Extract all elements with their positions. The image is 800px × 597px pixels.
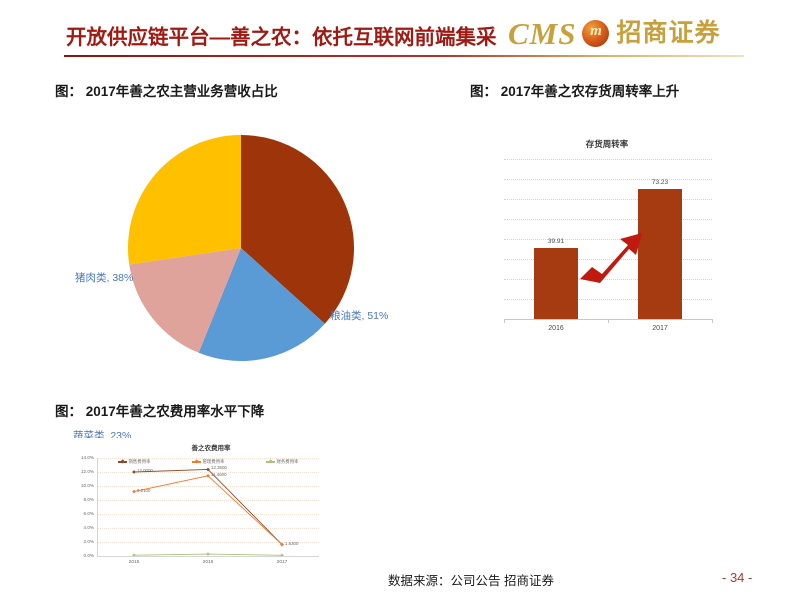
line-x-tick-label: 2015	[114, 560, 154, 565]
bar-x-tick	[608, 319, 609, 323]
pie-slice-label-zhurou: 猪肉类, 38%	[75, 270, 133, 285]
line-series-marker	[132, 490, 136, 494]
line-legend-item: 管理费用率	[192, 459, 225, 465]
bar-value-label: 39.91	[534, 238, 578, 245]
line-y-tick-label: 8.0%	[84, 497, 94, 502]
logo-latin-text: CMS	[508, 18, 576, 49]
line-y-tick-label: 10.0%	[81, 483, 94, 488]
line-y-tick-label: 6.0%	[84, 511, 94, 516]
pie-chart: 粮油类, 51% 禽蛋类, 27% 蔬菜类, 23% 猪肉类, 38%	[45, 118, 445, 388]
header-divider	[64, 55, 744, 57]
line-chart: 善之农费用率 14.0%12.0%10.0%8.0%6.0%4.0%2.0%0.…	[66, 438, 356, 578]
line-chart-y-axis	[97, 458, 98, 556]
bar-x-tick-label: 2017	[608, 325, 712, 332]
page-header: 开放供应链平台—善之农：依托互联网前端集采 CMS m 招商证券	[0, 0, 800, 68]
line-y-tick-label: 14.0%	[81, 455, 94, 460]
legend-swatch-icon	[192, 461, 201, 463]
legend-swatch-icon	[266, 461, 275, 463]
legend-swatch-icon	[118, 461, 127, 463]
line-series-path	[134, 476, 282, 545]
cms-logo: CMS m 招商证券	[508, 13, 721, 53]
line-y-tick-label: 2.0%	[84, 539, 94, 544]
line-series-path	[134, 469, 282, 544]
figure-caption-bar: 图： 2017年善之农存货周转率上升	[470, 80, 679, 100]
line-x-tick-label: 2016	[188, 560, 228, 565]
upward-trend-arrow-icon	[576, 227, 646, 287]
footer-page-number: - 34 -	[722, 570, 752, 585]
pie-slice-label-liangyou: 粮油类, 51%	[330, 308, 388, 323]
line-y-tick-label: 12.0%	[81, 469, 94, 474]
line-point-label: 12.0000	[137, 468, 153, 473]
bar-chart-title: 存货周转率	[492, 138, 722, 150]
logo-chinese-text: 招商证券	[616, 21, 720, 46]
line-chart-y-axis-labels: 14.0%12.0%10.0%8.0%6.0%4.0%2.0%0.0%	[66, 458, 94, 556]
line-y-tick-label: 0.0%	[84, 553, 94, 558]
logo-emblem-glyph: m	[582, 23, 609, 40]
legend-label: 财务费用率	[277, 459, 299, 465]
line-x-tick-label: 2017	[262, 560, 302, 565]
bar-value-label: 73.23	[638, 179, 682, 186]
legend-label: 管理费用率	[203, 459, 225, 465]
logo-emblem-icon: m	[582, 20, 609, 47]
line-point-label: 12.3600	[211, 465, 227, 470]
bar-x-tick-label: 2016	[504, 325, 608, 332]
bar-chart: 存货周转率 39.9173.23 20162017	[492, 122, 722, 342]
line-chart-x-axis	[97, 556, 319, 557]
footer-data-source: 数据来源：公司公告 招商证券	[388, 570, 554, 589]
line-chart-plot-area: 12.000012.36009.210011.46001.6300	[97, 458, 319, 556]
line-chart-legend: 销售费用率管理费用率财务费用率	[97, 459, 319, 465]
line-y-tick-label: 4.0%	[84, 525, 94, 530]
line-point-label: 1.6300	[285, 541, 298, 546]
legend-label: 销售费用率	[129, 459, 151, 465]
line-legend-item: 财务费用率	[266, 459, 299, 465]
line-legend-item: 销售费用率	[118, 459, 151, 465]
bar-column	[534, 248, 578, 319]
bar-x-tick	[504, 319, 505, 323]
line-point-label: 9.2100	[137, 488, 150, 493]
bar-x-tick	[712, 319, 713, 323]
pie-chart-svg	[45, 118, 445, 388]
page-title: 开放供应链平台—善之农：依托互联网前端集采	[66, 20, 497, 50]
line-series-marker	[132, 470, 136, 474]
line-chart-title: 善之农费用率	[66, 442, 356, 452]
figure-caption-pie: 图： 2017年善之农主营业务营收占比	[55, 80, 278, 100]
figure-caption-line: 图： 2017年善之农费用率水平下降	[55, 400, 264, 420]
bar-chart-gridline	[504, 159, 712, 160]
line-point-label: 11.4600	[211, 472, 227, 477]
pie-slice	[128, 135, 241, 265]
